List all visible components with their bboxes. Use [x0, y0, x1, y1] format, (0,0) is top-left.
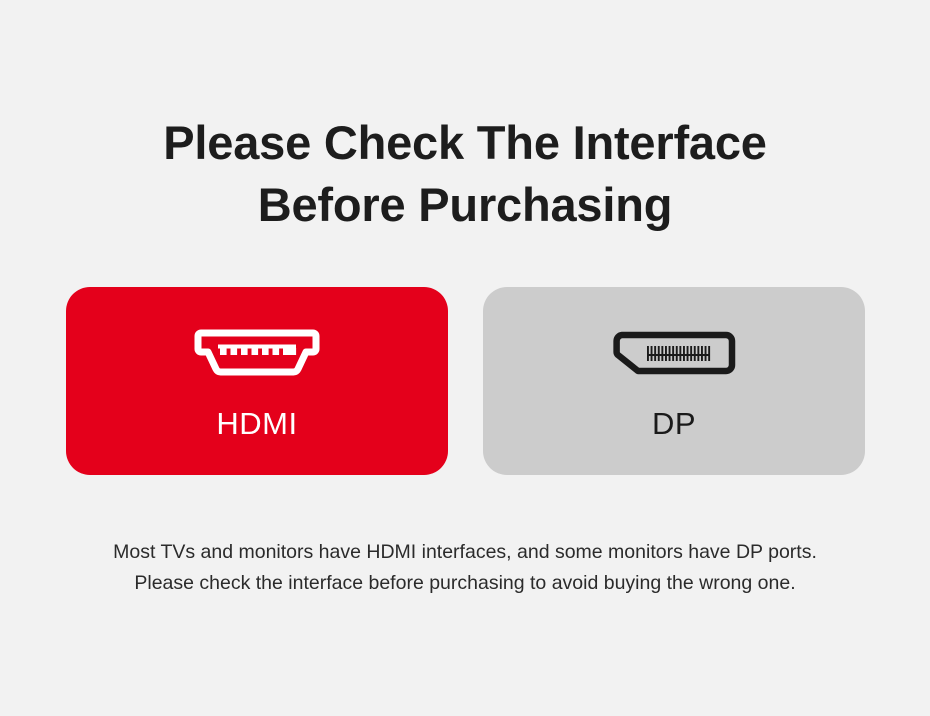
hdmi-icon-wrap [194, 324, 320, 388]
page-title-line-2: Before Purchasing [0, 174, 930, 236]
page-title: Please Check The Interface Before Purcha… [0, 112, 930, 236]
interface-card-hdmi[interactable]: HDMI [66, 287, 448, 475]
interface-card-dp[interactable]: DP [483, 287, 865, 475]
footnote-line-1: Most TVs and monitors have HDMI interfac… [0, 537, 930, 568]
footnote-line-2: Please check the interface before purcha… [0, 568, 930, 599]
interface-card-label-dp: DP [652, 408, 696, 439]
interface-card-label-hdmi: HDMI [216, 408, 297, 439]
interface-card-row: HDMI [66, 287, 865, 475]
page-title-line-1: Please Check The Interface [0, 112, 930, 174]
dp-icon-wrap [611, 324, 737, 388]
product-info-banner: Please Check The Interface Before Purcha… [0, 0, 930, 716]
hdmi-port-icon [194, 329, 320, 383]
displayport-port-icon [611, 329, 737, 383]
footnote: Most TVs and monitors have HDMI interfac… [0, 537, 930, 599]
